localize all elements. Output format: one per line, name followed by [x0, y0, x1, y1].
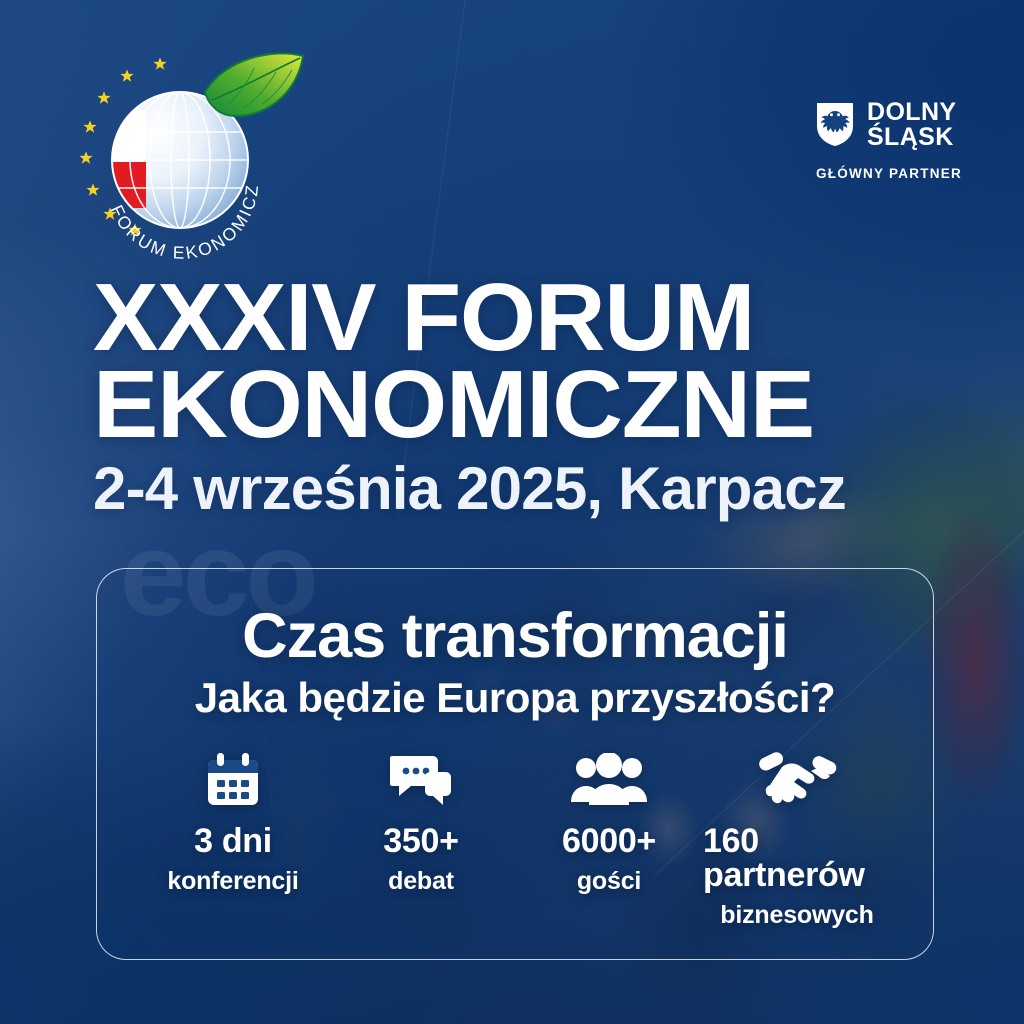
stat-label: gości: [577, 869, 641, 894]
panel-headline: Czas transformacji: [97, 605, 933, 668]
handshake-icon: [755, 750, 839, 810]
partner-name-line2: ŚLĄSK: [867, 125, 957, 150]
stat-number: 160 partnerów: [703, 824, 891, 892]
stat-label: konferencji: [167, 869, 298, 894]
dolny-slask-crest-icon: [816, 102, 854, 147]
partner-name-line1: DOLNY: [867, 100, 957, 125]
stat-item-partners: 160 partnerów biznesowych: [703, 750, 891, 928]
panel-subheadline: Jaka będzie Europa przyszłości?: [97, 676, 933, 720]
stat-item-guests: 6000+ gości: [515, 750, 703, 894]
calendar-icon: [204, 750, 262, 810]
stat-number: 3 dni: [194, 824, 272, 858]
partner-name: DOLNY ŚLĄSK: [867, 100, 957, 149]
title-line-2: EKONOMICZNE: [93, 359, 970, 450]
poster: eco: [0, 0, 1024, 1024]
title-line-1: XXXIV FORUM: [93, 272, 970, 363]
stat-item-debates: 350+ debat: [327, 750, 515, 894]
people-icon: [571, 750, 647, 810]
polish-flag: [112, 110, 146, 208]
content-panel: Czas transformacji Jaka będzie Europa pr…: [96, 568, 934, 960]
chat-icon: [390, 750, 452, 810]
partner-role-label: GŁÓWNY PARTNER: [816, 166, 962, 181]
forum-ekonomiczne-logo: FORUM EKONOMICZNE: [62, 42, 330, 274]
event-date-location: 2-4 września 2025, Karpacz: [93, 458, 953, 519]
title-block: XXXIV FORUM EKONOMICZNE 2-4 września 202…: [93, 272, 953, 520]
leaf-icon: [205, 53, 303, 116]
stat-item-days: 3 dni konferencji: [139, 750, 327, 894]
stat-number: 350+: [383, 824, 458, 858]
stats-row: 3 dni konferencji 350+ d: [97, 720, 933, 928]
partner-logo-block: DOLNY ŚLĄSK GŁÓWNY PARTNER: [816, 100, 962, 181]
stat-label: biznesowych: [720, 903, 873, 928]
stat-number: 6000+: [562, 824, 656, 858]
stat-label: debat: [388, 869, 454, 894]
